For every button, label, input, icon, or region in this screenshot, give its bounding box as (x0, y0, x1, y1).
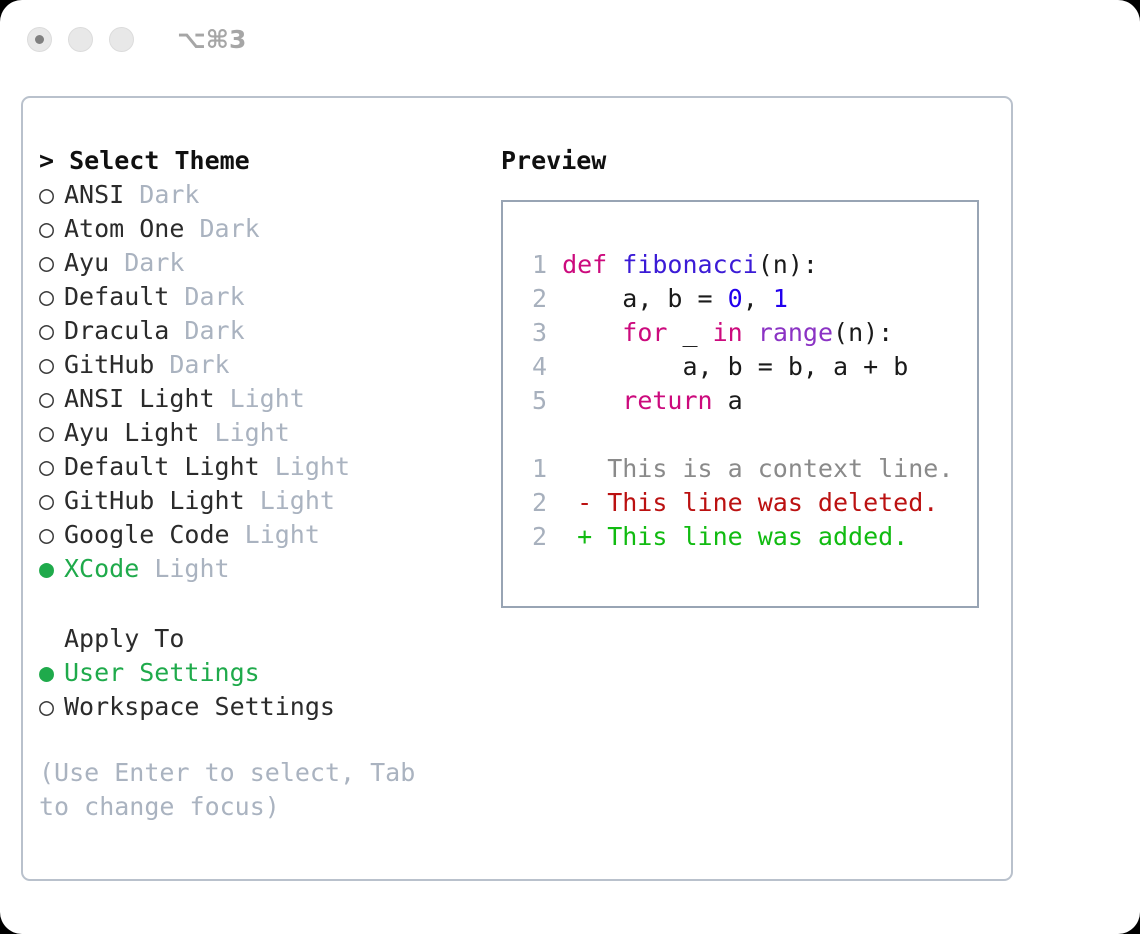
theme-option-ansi[interactable]: ○ANSI Dark (39, 178, 509, 212)
theme-variant-tag: Light (260, 484, 335, 518)
radio-unselected-icon: ○ (39, 348, 64, 382)
label-spacer (169, 280, 184, 314)
app-window: ⌥⌘3 > Select Theme ○ANSI Dark○Atom One D… (0, 0, 1140, 934)
diff-line: 2 + This line was added. (521, 520, 977, 554)
theme-option-xcode[interactable]: ●XCode Light (39, 552, 509, 586)
theme-variant-tag: Light (275, 450, 350, 484)
label-spacer (169, 314, 184, 348)
radio-unselected-icon: ○ (39, 416, 64, 450)
diff-line-text-add: + This line was added. (547, 522, 908, 551)
theme-option-label: XCode (64, 552, 139, 586)
window-dot-3[interactable] (109, 27, 134, 52)
theme-variant-tag: Light (230, 382, 305, 416)
code-token-num: 0 (728, 284, 743, 313)
label-spacer (184, 212, 199, 246)
theme-option-label: Default Light (64, 450, 260, 484)
code-token-num: 1 (773, 284, 788, 313)
code-token-plain (743, 318, 758, 347)
code-line: 3 for _ in range(n): (521, 316, 977, 350)
theme-option-label: GitHub Light (64, 484, 245, 518)
main-panel: > Select Theme ○ANSI Dark○Atom One Dark○… (21, 96, 1013, 881)
label-spacer (109, 246, 124, 280)
theme-option-label: Google Code (64, 518, 230, 552)
radio-unselected-icon: ○ (39, 484, 64, 518)
theme-variant-tag: Dark (199, 212, 259, 246)
code-line: 2 a, b = 0, 1 (521, 282, 977, 316)
code-token-kw: for (622, 318, 667, 347)
label-spacer (124, 178, 139, 212)
keyboard-shortcut-label: ⌥⌘3 (177, 25, 246, 54)
line-number: 1 (521, 452, 547, 486)
line-number: 5 (521, 384, 547, 418)
preview-box: 1 def fibonacci(n):2 a, b = 0, 13 for _ … (501, 200, 979, 608)
line-number: 2 (521, 520, 547, 554)
code-line-text (547, 284, 562, 313)
code-sample: 1 def fibonacci(n):2 a, b = 0, 13 for _ … (521, 248, 977, 418)
diff-line-text-del: - This line was deleted. (547, 488, 938, 517)
theme-list: ○ANSI Dark○Atom One Dark○Ayu Dark○Defaul… (39, 178, 509, 586)
diff-line: 1 This is a context line. (521, 452, 977, 486)
radio-unselected-icon: ○ (39, 518, 64, 552)
preview-heading: Preview (501, 144, 1001, 178)
theme-variant-tag: Dark (124, 246, 184, 280)
theme-option-ansi-light[interactable]: ○ANSI Light Light (39, 382, 509, 416)
code-token-call: range (758, 318, 833, 347)
radio-unselected-icon: ○ (39, 314, 64, 348)
code-token-fn: fibonacci (622, 250, 757, 279)
window-dot-active-inner (35, 35, 44, 44)
code-token-plain: (n): (758, 250, 818, 279)
line-number: 1 (521, 248, 547, 282)
apply-to-option-user-settings[interactable]: ●User Settings (39, 656, 509, 690)
theme-option-default[interactable]: ○Default Dark (39, 280, 509, 314)
theme-picker-column: > Select Theme ○ANSI Dark○Atom One Dark○… (39, 144, 509, 824)
code-token-kw: def (562, 250, 607, 279)
theme-option-label: Atom One (64, 212, 184, 246)
diff-sample: 1 This is a context line.2 - This line w… (521, 452, 977, 554)
code-line: 1 def fibonacci(n): (521, 248, 977, 282)
theme-option-github[interactable]: ○GitHub Dark (39, 348, 509, 382)
line-number: 3 (521, 316, 547, 350)
radio-unselected-icon: ○ (39, 246, 64, 280)
theme-option-label: Ayu (64, 246, 109, 280)
code-token-kw: in (713, 318, 743, 347)
code-line: 5 return a (521, 384, 977, 418)
line-number: 2 (521, 282, 547, 316)
code-line-text (547, 250, 562, 279)
window-dot-active[interactable] (27, 27, 52, 52)
label-spacer (245, 484, 260, 518)
apply-to-option-workspace-settings[interactable]: ○Workspace Settings (39, 690, 509, 724)
theme-option-label: Dracula (64, 314, 169, 348)
theme-option-label: ANSI Light (64, 382, 215, 416)
code-token-plain: a, b = b, a + b (562, 352, 908, 381)
radio-selected-icon: ● (39, 656, 64, 690)
code-line-text (547, 352, 562, 381)
code-token-kw: return (622, 386, 712, 415)
radio-unselected-icon: ○ (39, 382, 64, 416)
radio-unselected-icon: ○ (39, 178, 64, 212)
theme-option-default-light[interactable]: ○Default Light Light (39, 450, 509, 484)
diff-line: 2 - This line was deleted. (521, 486, 977, 520)
theme-variant-tag: Dark (139, 178, 199, 212)
apply-to-list: ●User Settings○Workspace Settings (39, 656, 509, 724)
line-number: 4 (521, 350, 547, 384)
theme-variant-tag: Light (245, 518, 320, 552)
theme-variant-tag: Dark (184, 314, 244, 348)
theme-option-dracula[interactable]: ○Dracula Dark (39, 314, 509, 348)
section-spacer (39, 586, 509, 622)
radio-unselected-icon: ○ (39, 212, 64, 246)
theme-variant-tag: Dark (184, 280, 244, 314)
titlebar: ⌥⌘3 (0, 0, 1140, 78)
preview-column: Preview 1 def fibonacci(n):2 a, b = 0, 1… (501, 144, 1001, 608)
code-token-plain: (n): (833, 318, 893, 347)
theme-option-ayu-light[interactable]: ○Ayu Light Light (39, 416, 509, 450)
theme-option-label: Default (64, 280, 169, 314)
diff-spacer (521, 418, 977, 452)
theme-option-label: Ayu Light (64, 416, 199, 450)
label-spacer (154, 348, 169, 382)
theme-variant-tag: Light (154, 552, 229, 586)
code-token-plain: , (743, 284, 773, 313)
keyboard-hint: (Use Enter to select, Tab to change focu… (39, 756, 439, 824)
label-spacer (260, 450, 275, 484)
theme-option-label: ANSI (64, 178, 124, 212)
label-spacer (215, 382, 230, 416)
apply-to-option-label: User Settings (64, 656, 260, 690)
radio-selected-icon: ● (39, 552, 64, 586)
code-token-plain (607, 250, 622, 279)
radio-unselected-icon: ○ (39, 280, 64, 314)
code-line: 4 a, b = b, a + b (521, 350, 977, 384)
code-token-plain: a, b = (562, 284, 728, 313)
radio-unselected-icon: ○ (39, 450, 64, 484)
theme-variant-tag: Light (215, 416, 290, 450)
theme-option-atom-one[interactable]: ○Atom One Dark (39, 212, 509, 246)
panel-columns: > Select Theme ○ANSI Dark○Atom One Dark○… (23, 98, 1011, 879)
theme-variant-tag: Dark (169, 348, 229, 382)
line-number: 2 (521, 486, 547, 520)
theme-option-ayu[interactable]: ○Ayu Dark (39, 246, 509, 280)
label-spacer (230, 518, 245, 552)
label-spacer (199, 416, 214, 450)
window-controls (27, 27, 134, 52)
apply-to-heading: Apply To (39, 622, 509, 656)
code-token-plain: _ (667, 318, 712, 347)
code-token-plain (562, 386, 622, 415)
diff-line-text-context: This is a context line. (547, 454, 953, 483)
theme-option-label: GitHub (64, 348, 154, 382)
select-theme-heading: > Select Theme (39, 144, 509, 178)
theme-option-github-light[interactable]: ○GitHub Light Light (39, 484, 509, 518)
theme-option-google-code[interactable]: ○Google Code Light (39, 518, 509, 552)
window-dot-2[interactable] (68, 27, 93, 52)
code-token-plain (562, 318, 622, 347)
code-line-text (547, 386, 562, 415)
radio-unselected-icon: ○ (39, 690, 64, 724)
label-spacer (139, 552, 154, 586)
code-line-text (547, 318, 562, 347)
apply-to-option-label: Workspace Settings (64, 690, 335, 724)
code-token-plain: a (713, 386, 743, 415)
